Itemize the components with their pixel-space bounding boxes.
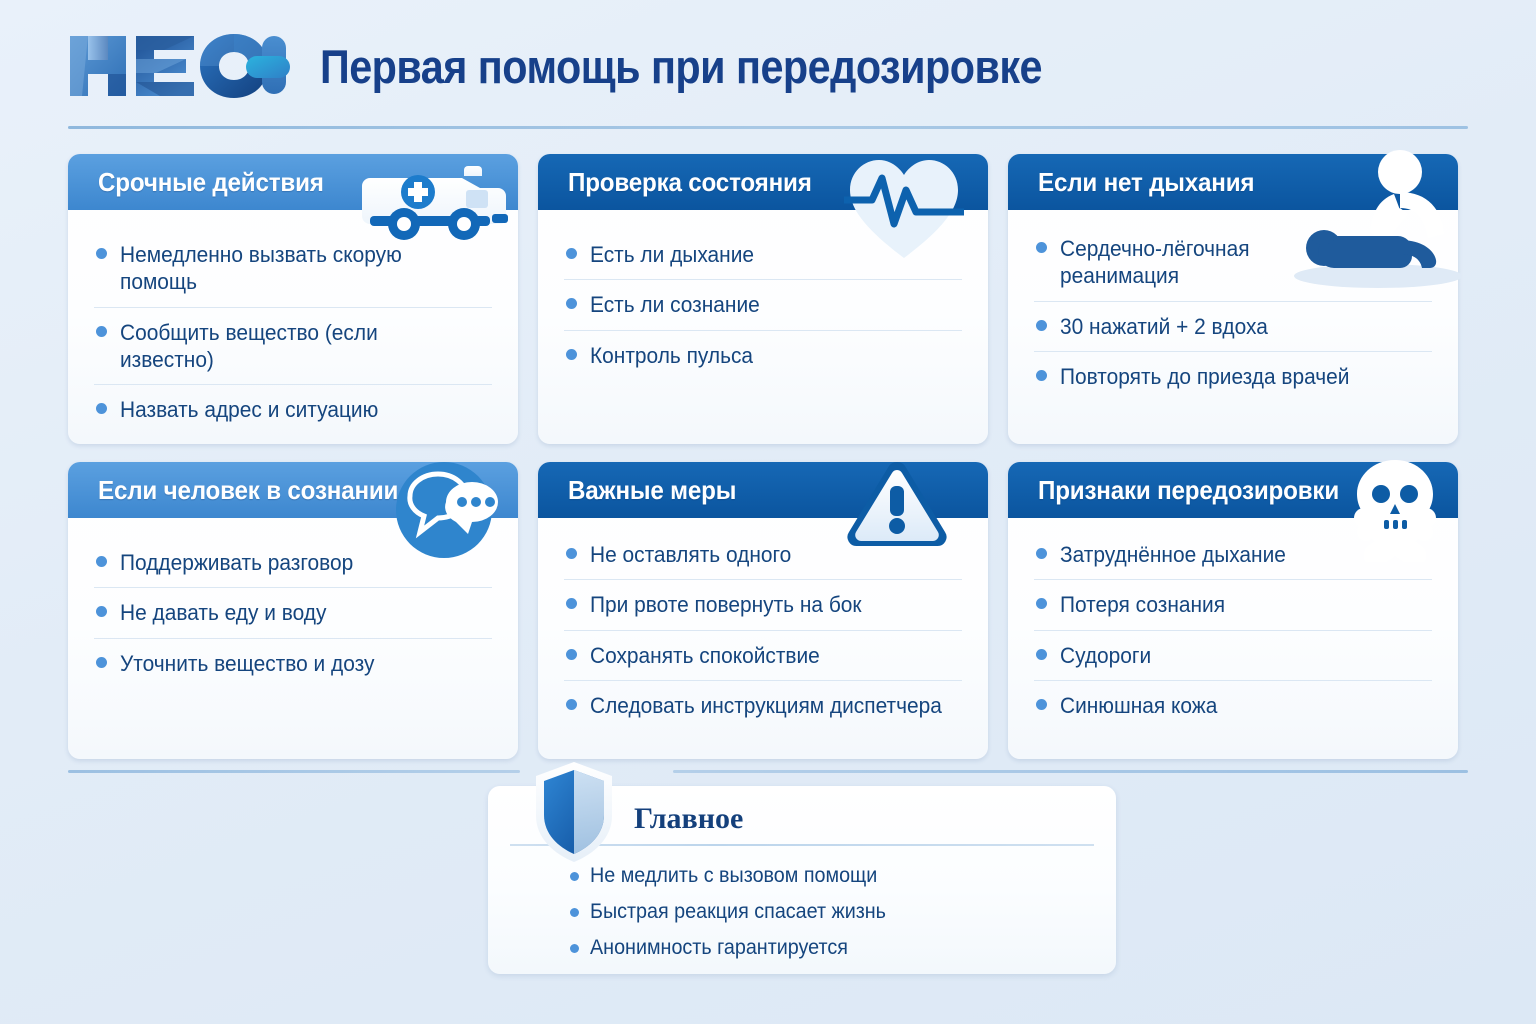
- card-conscious-person[interactable]: Если человек в сознании Поддерживать раз…: [68, 462, 518, 759]
- summary-card[interactable]: Главное Не медлить с вызовом помощи Быст…: [488, 786, 1116, 974]
- list-item-label: Не оставлять одного: [590, 541, 791, 568]
- infographic-page: Первая помощь при передозировке Срочные …: [0, 0, 1536, 1024]
- card-body: Затруднённое дыхание Потеря сознания Суд…: [1008, 518, 1458, 742]
- list-item: Немедленно вызвать скорую помощь: [94, 230, 492, 308]
- list-item-label: Поддерживать разговор: [120, 549, 353, 576]
- page-title: Первая помощь при передозировке: [320, 43, 1042, 90]
- card-title: Проверка состояния: [568, 167, 812, 198]
- bullet-dot: [96, 403, 107, 414]
- card-condition-check[interactable]: Проверка состояния Есть ли дыхание Есть …: [538, 154, 988, 444]
- list-item-label: Затруднённое дыхание: [1060, 541, 1286, 568]
- list-item: Есть ли дыхание: [564, 230, 962, 280]
- bullet-dot: [96, 606, 107, 617]
- list-item: Есть ли сознание: [564, 280, 962, 330]
- footer-divider-left: [68, 770, 520, 773]
- bullet-dot: [570, 872, 579, 881]
- list-item: Назвать адрес и ситуацию: [94, 385, 492, 434]
- list-item: Быстрая реакция спасает жизнь: [570, 894, 1090, 930]
- bullet-dot: [1036, 598, 1047, 609]
- page-header: Первая помощь при передозировке: [68, 22, 1468, 110]
- list-item: Следовать инструкциям диспетчера: [564, 681, 962, 730]
- card-body: Немедленно вызвать скорую помощь Сообщит…: [68, 210, 518, 446]
- card-important-measures[interactable]: Важные меры Не оставлять одного При рвот…: [538, 462, 988, 759]
- list-item-label: Есть ли сознание: [590, 291, 760, 318]
- list-item-label: Повторять до приезда врачей: [1060, 363, 1349, 390]
- card-body: Есть ли дыхание Есть ли сознание Контрол…: [538, 210, 988, 392]
- bullet-dot: [570, 944, 579, 953]
- list-item-label: Потеря сознания: [1060, 591, 1225, 618]
- list-item: Не медлить с вызовом помощи: [570, 858, 1090, 894]
- bullet-dot: [1036, 649, 1047, 660]
- summary-list: Не медлить с вызовом помощи Быстрая реак…: [570, 858, 1090, 966]
- bullet-dot: [96, 556, 107, 567]
- bullet-dot: [96, 248, 107, 259]
- cards-grid: Срочные действия: [68, 154, 1468, 759]
- card-header: Признаки передозировки: [1008, 462, 1458, 518]
- card-title: Срочные действия: [98, 167, 324, 198]
- list-item-label: Синюшная кожа: [1060, 692, 1217, 719]
- bullet-dot: [566, 699, 577, 710]
- list-item-label: Быстрая реакция спасает жизнь: [590, 900, 886, 924]
- card-body: Поддерживать разговор Не давать еду и во…: [68, 518, 518, 700]
- card-header: Важные меры: [538, 462, 988, 518]
- list-item-label: Назвать адрес и ситуацию: [120, 396, 378, 423]
- bullet-dot: [566, 649, 577, 660]
- card-title: Если нет дыхания: [1038, 167, 1254, 198]
- bullet-dot: [566, 298, 577, 309]
- list-item-label: Контроль пульса: [590, 342, 753, 369]
- list-item: Сообщить вещество (если известно): [94, 308, 492, 386]
- list-item-label: Сообщить вещество (если известно): [120, 319, 473, 374]
- bullet-dot: [1036, 699, 1047, 710]
- bullet-dot: [570, 908, 579, 917]
- list-item-label: Есть ли дыхание: [590, 241, 754, 268]
- bullet-dot: [1036, 370, 1047, 381]
- footer-divider-right: [673, 770, 1468, 773]
- list-item: Синюшная кожа: [1034, 681, 1432, 730]
- card-title: Важные меры: [568, 475, 736, 506]
- card-header: Проверка состояния: [538, 154, 988, 210]
- bullet-dot: [566, 248, 577, 259]
- bullet-dot: [566, 349, 577, 360]
- bullet-dot: [1036, 548, 1047, 559]
- bullet-dot: [96, 657, 107, 668]
- list-item-label: Сохранять спокойствие: [590, 642, 820, 669]
- bullet-dot: [566, 598, 577, 609]
- card-overdose-signs[interactable]: Признаки передозировки: [1008, 462, 1458, 759]
- list-item-label: Следовать инструкциям диспетчера: [590, 692, 942, 719]
- list-item-label: Немедленно вызвать скорую помощь: [120, 241, 473, 296]
- card-body: Сердечно-лёгочная реанимация 30 нажатий …: [1008, 210, 1458, 413]
- list-item: Повторять до приезда врачей: [1034, 352, 1432, 401]
- list-item-label: Сердечно-лёгочная реанимация: [1060, 235, 1264, 290]
- list-item: Поддерживать разговор: [94, 538, 492, 588]
- list-item: Анонимность гарантируется: [570, 930, 1090, 966]
- bullet-dot: [96, 326, 107, 337]
- neo-plus-logo: [68, 30, 290, 102]
- list-item-label: 30 нажатий + 2 вдоха: [1060, 313, 1268, 340]
- list-item-label: При рвоте повернуть на бок: [590, 591, 862, 618]
- list-item: При рвоте повернуть на бок: [564, 580, 962, 630]
- card-header: Если человек в сознании: [68, 462, 518, 518]
- card-title: Если человек в сознании: [98, 475, 398, 506]
- list-item: Сохранять спокойствие: [564, 631, 962, 681]
- list-item-label: Судороги: [1060, 642, 1151, 669]
- card-title: Признаки передозировки: [1038, 475, 1339, 506]
- shield-icon: [532, 760, 616, 869]
- list-item: Судороги: [1034, 631, 1432, 681]
- list-item-label: Уточнить вещество и дозу: [120, 650, 374, 677]
- list-item: Не давать еду и воду: [94, 588, 492, 638]
- bullet-dot: [1036, 320, 1047, 331]
- list-item: Не оставлять одного: [564, 530, 962, 580]
- list-item: Потеря сознания: [1034, 580, 1432, 630]
- list-item-label: Не медлить с вызовом помощи: [590, 864, 877, 888]
- card-header: Если нет дыхания: [1008, 154, 1458, 210]
- list-item: 30 нажатий + 2 вдоха: [1034, 302, 1432, 352]
- card-header: Срочные действия: [68, 154, 518, 210]
- list-item: Сердечно-лёгочная реанимация: [1034, 224, 1432, 302]
- bullet-dot: [566, 548, 577, 559]
- list-item-label: Не давать еду и воду: [120, 599, 326, 626]
- list-item-label: Анонимность гарантируется: [590, 936, 848, 960]
- card-no-breathing[interactable]: Если нет дыхания: [1008, 154, 1458, 444]
- list-item: Контроль пульса: [564, 331, 962, 380]
- list-item: Уточнить вещество и дозу: [94, 639, 492, 688]
- list-item: Затруднённое дыхание: [1034, 530, 1432, 580]
- bullet-dot: [1036, 242, 1047, 253]
- card-body: Не оставлять одного При рвоте повернуть …: [538, 518, 988, 742]
- summary-title: Главное: [634, 802, 743, 836]
- card-urgent-actions[interactable]: Срочные действия: [68, 154, 518, 444]
- header-divider: [68, 126, 1468, 129]
